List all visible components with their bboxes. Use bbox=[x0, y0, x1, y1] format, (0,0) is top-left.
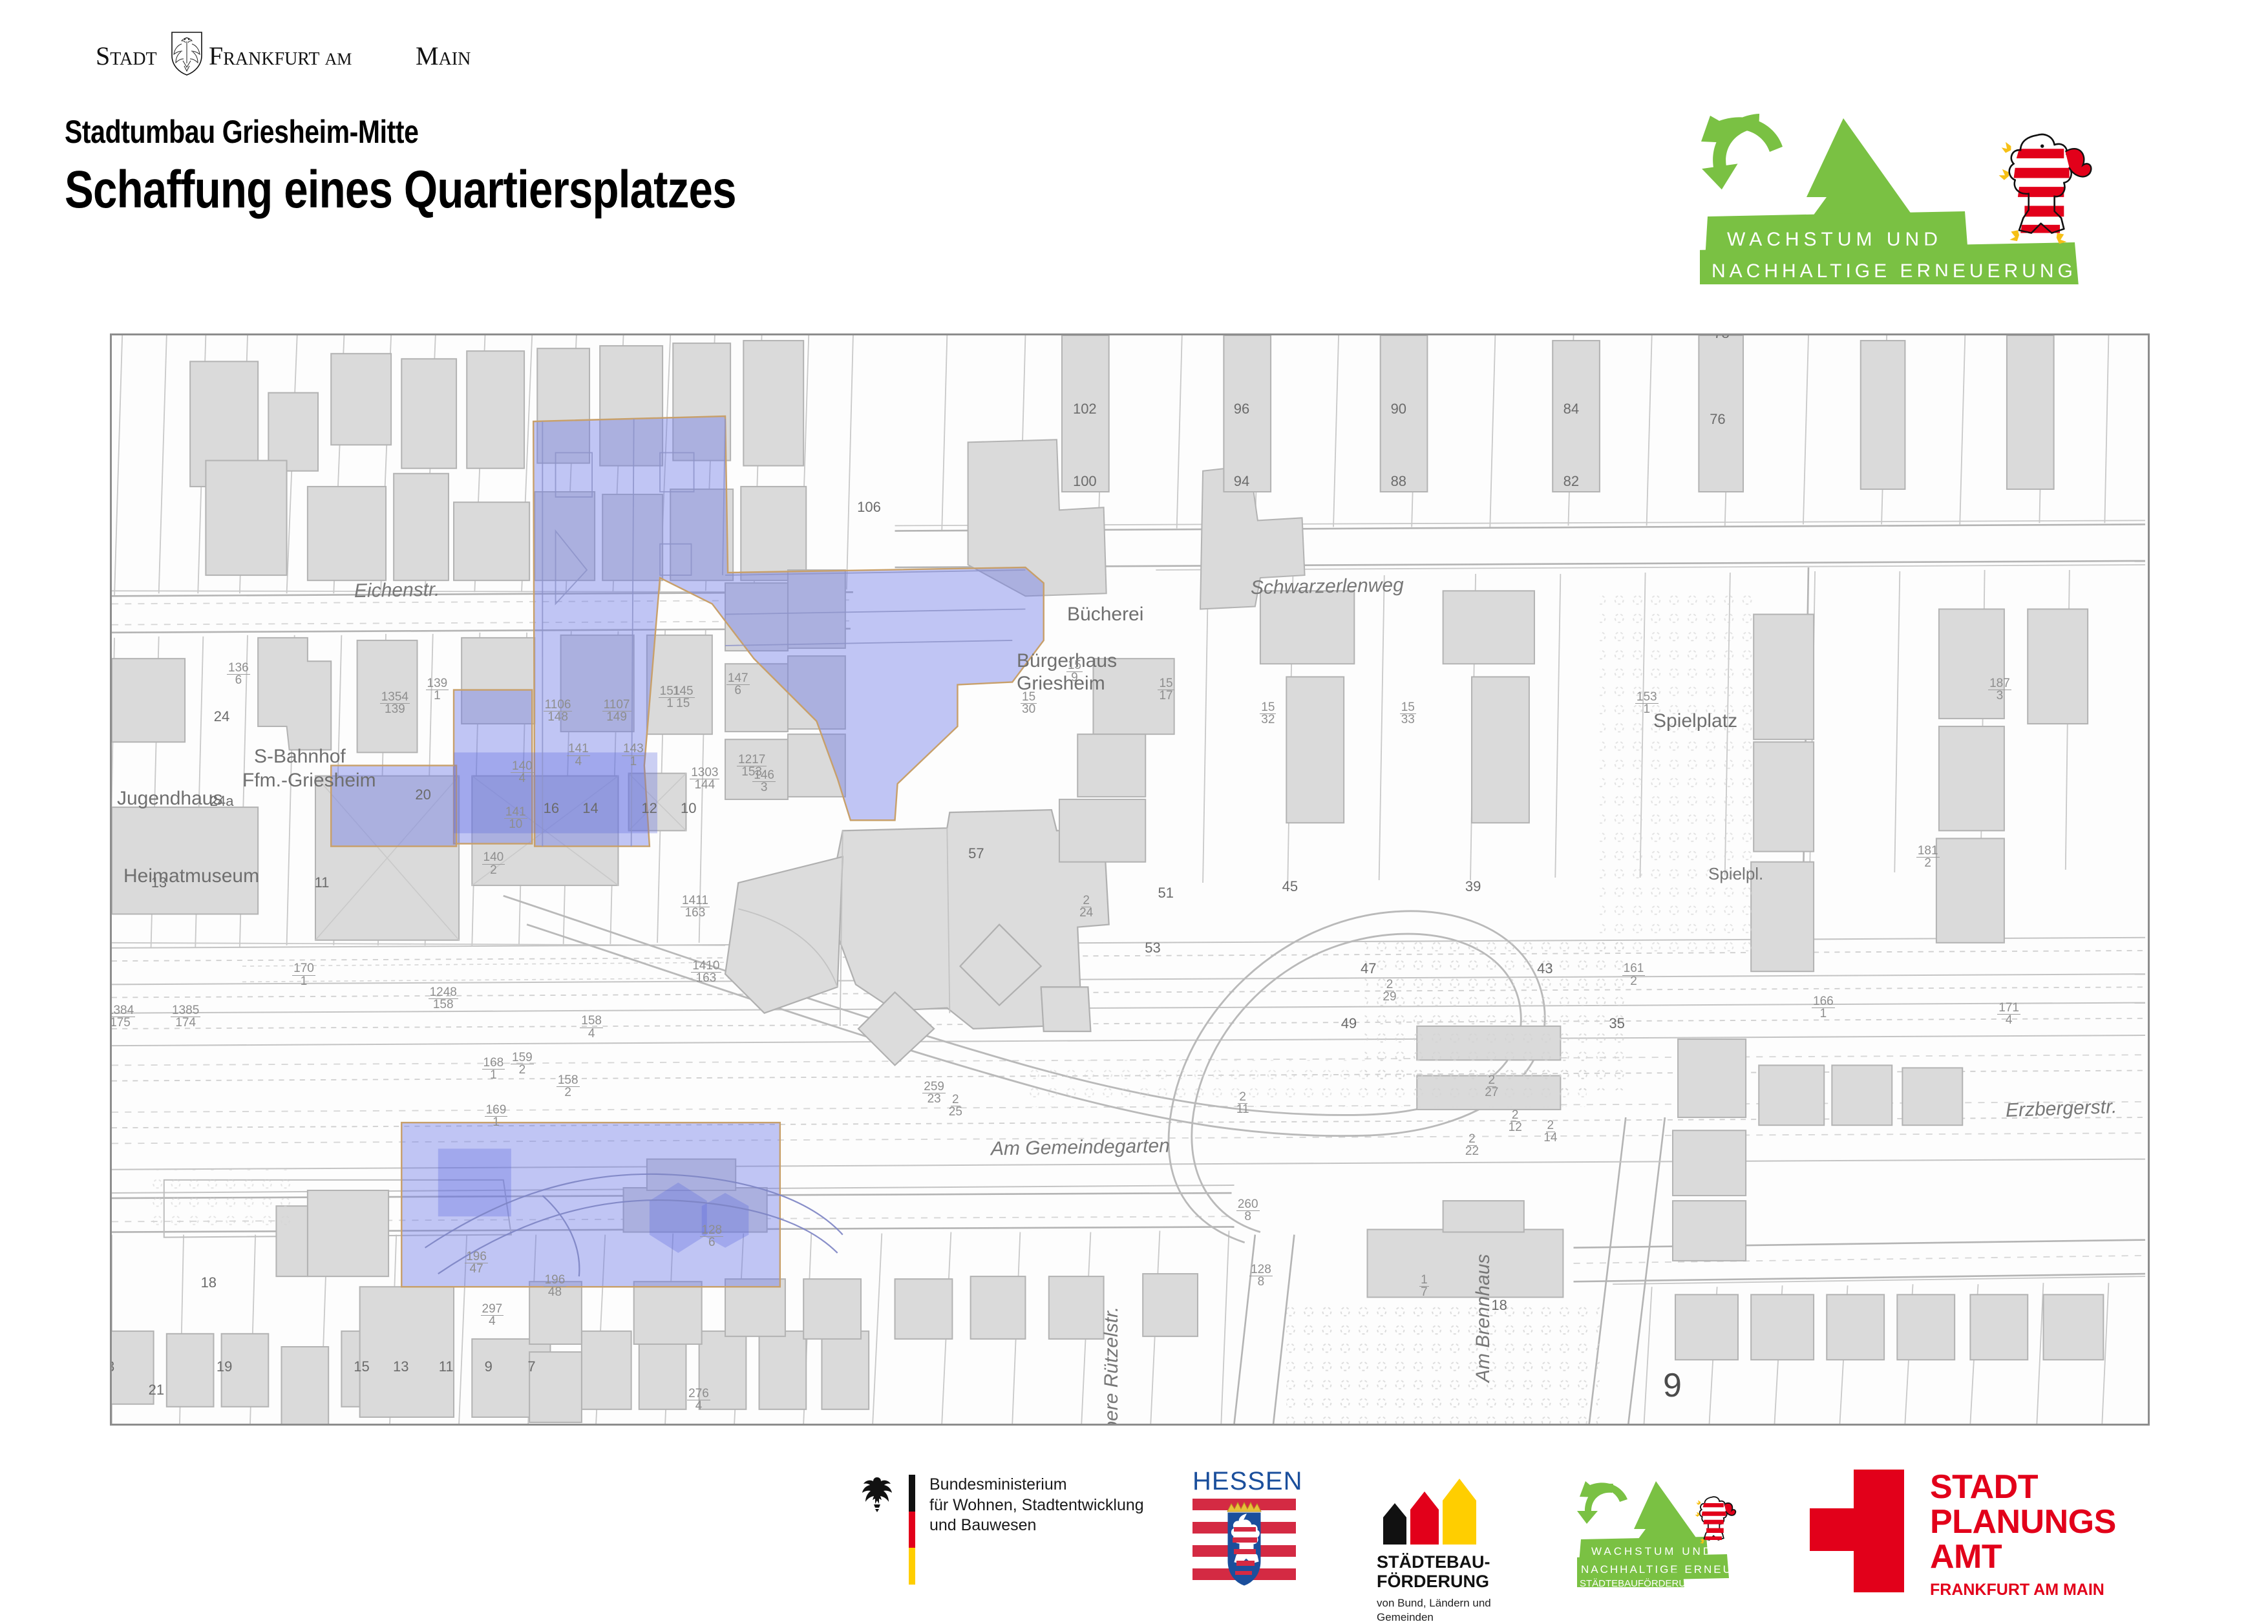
parcel-number: 1366 bbox=[227, 662, 250, 686]
staedtebaufoerderung-logo: STÄDTEBAU- FÖRDERUNG von Bund, Ländern u… bbox=[1377, 1475, 1491, 1624]
house-number: 14 bbox=[582, 800, 598, 817]
house-number: 9 bbox=[485, 1358, 493, 1375]
house-number: 20 bbox=[415, 786, 430, 803]
map-canvas bbox=[112, 335, 2148, 1424]
wachstum-und-nachhaltige-erneuerung-logo: WACHSTUM UND NACHHALTIGE ERNEUERUNG STÄD… bbox=[1700, 113, 2165, 284]
parcel-number: 2764 bbox=[687, 1388, 710, 1412]
parcel-number: 17 bbox=[1419, 1274, 1429, 1298]
parcel-number: 1354139 bbox=[380, 691, 410, 715]
house-number: 15 bbox=[354, 1358, 369, 1375]
cadastral-map[interactable]: Eichenstr. Schwarzerlenweg Erzbergerstr.… bbox=[110, 333, 2150, 1426]
federal-eagle-icon bbox=[860, 1475, 895, 1513]
house-number: 88 bbox=[1391, 473, 1406, 490]
parcel-number: 1661 bbox=[1812, 996, 1835, 1020]
house-number: 24a bbox=[210, 793, 234, 810]
hessen-wordmark: HESSEN bbox=[1192, 1467, 1303, 1496]
house-number: 12 bbox=[641, 800, 657, 817]
parcel-number: 1873 bbox=[1988, 678, 2011, 702]
stadtplanungsamt-logo: STADT PLANUNGS AMT FRANKFURT AM MAIN bbox=[1810, 1470, 2116, 1599]
spa-line3: AMT bbox=[1930, 1539, 2116, 1574]
parcel-number: 1414 bbox=[567, 743, 590, 767]
hessen-state-logo: HESSEN bbox=[1192, 1467, 1303, 1592]
house-number: 13 bbox=[393, 1358, 408, 1375]
house-number: 98 bbox=[1230, 333, 1245, 339]
parcel-number: 1391 bbox=[426, 678, 449, 702]
poi-label-spielpl: Spielpl. bbox=[1708, 864, 1763, 884]
poi-label-jugendhaus: Jugendhaus bbox=[117, 788, 222, 810]
house-number: 76 bbox=[1710, 411, 1725, 428]
parcel-number: 2608 bbox=[1236, 1199, 1260, 1223]
parcel-number: 1404 bbox=[511, 761, 534, 785]
parcel-number: 2974 bbox=[481, 1303, 504, 1327]
hessen-coat-of-arms-icon bbox=[1192, 1499, 1296, 1589]
house-number: 39 bbox=[1465, 878, 1481, 895]
project-subtitle: Stadtumbau Griesheim-Mitte bbox=[65, 113, 736, 151]
bmwsb-line1: Bundesministerium bbox=[929, 1475, 1144, 1495]
street-label-am-gemeindegarten: Am Gemeindegarten bbox=[991, 1135, 1170, 1161]
house-number: 10 bbox=[681, 800, 696, 817]
parcel-number: 1385174 bbox=[171, 1005, 200, 1029]
parcel-number: 1288 bbox=[1249, 1264, 1273, 1288]
street-label-am-brennhaus: Am Brennhaus bbox=[1472, 1254, 1494, 1382]
three-houses-icon bbox=[1377, 1475, 1487, 1546]
parcel-number: 1431 bbox=[622, 743, 645, 767]
parcel-number: 14110 bbox=[504, 807, 527, 830]
parcel-number: 1410163 bbox=[691, 960, 721, 984]
poi-label-spielplatz: Spielplatz bbox=[1653, 710, 1737, 732]
poi-label-buecherei: Bücherei bbox=[1067, 604, 1143, 626]
house-number: 45 bbox=[1282, 878, 1298, 895]
parcel-number: 19647 bbox=[465, 1251, 488, 1275]
parcel-number: 227 bbox=[1485, 1075, 1498, 1099]
bmwsb-logo: Bundesministerium für Wohnen, Stadtentwi… bbox=[860, 1475, 1144, 1585]
map-scale-glyph: 9 bbox=[1663, 1366, 1682, 1405]
house-number: 18 bbox=[1491, 1297, 1507, 1314]
parcel-number: 1532 bbox=[1260, 702, 1276, 726]
parcel-number: 1217153 bbox=[737, 754, 767, 778]
svg-text:STADT: STADT bbox=[96, 41, 157, 70]
house-number: 78 bbox=[1713, 333, 1729, 342]
footer-logo-bar: Bundesministerium für Wohnen, Stadtentwi… bbox=[0, 1462, 2268, 1603]
poi-label-s-bahnhof: S-Bahnhof bbox=[254, 746, 346, 768]
street-label-schwarzerlenweg: Schwarzerlenweg bbox=[1251, 575, 1404, 599]
parcel-number: 1584 bbox=[580, 1015, 603, 1039]
parcel-number: 211 bbox=[1236, 1091, 1249, 1115]
parcel-number: 1812 bbox=[1916, 845, 1940, 869]
spa-mark-icon bbox=[1810, 1470, 1908, 1592]
city-of-frankfurt-logo: STADT FRANKFURTAM MAIN bbox=[96, 31, 522, 76]
parcel-number: 1384175 bbox=[110, 1005, 135, 1029]
house-number: 49 bbox=[1341, 1015, 1357, 1032]
parcel-number: 1411163 bbox=[681, 895, 710, 919]
parcel-number: 1592 bbox=[511, 1052, 534, 1076]
house-number: 82 bbox=[1563, 473, 1579, 490]
parcel-number: 1476 bbox=[726, 673, 750, 697]
poi-label-heimatmuseum: Heimatmuseum bbox=[123, 865, 259, 887]
parcel-number: 1691 bbox=[485, 1104, 508, 1128]
parcel-number: 1286 bbox=[700, 1225, 723, 1249]
staedtebau-line1: STÄDTEBAU- bbox=[1377, 1553, 1491, 1572]
house-number: 104 bbox=[1066, 333, 1090, 339]
house-number: 24 bbox=[214, 708, 229, 725]
parcel-number: 1511 bbox=[659, 686, 682, 710]
house-number: 51 bbox=[1158, 885, 1173, 902]
parcel-number: 159 bbox=[1066, 660, 1083, 684]
house-number: 90 bbox=[1391, 401, 1406, 417]
bmwsb-line2: für Wohnen, Stadtentwicklung bbox=[929, 1495, 1144, 1516]
spa-line2: PLANUNGS bbox=[1930, 1504, 2116, 1539]
parcel-number: 1303144 bbox=[690, 767, 719, 791]
house-number: 35 bbox=[1609, 1015, 1624, 1032]
house-number: 11 bbox=[439, 1358, 454, 1375]
house-number: 11 bbox=[315, 874, 330, 891]
parcel-number: 1248158 bbox=[429, 987, 458, 1011]
house-number: 92 bbox=[1387, 333, 1403, 339]
house-number: 16 bbox=[544, 800, 559, 817]
staedtebau-sub1: von Bund, Ländern und bbox=[1377, 1596, 1491, 1610]
parcel-number: 224 bbox=[1079, 895, 1093, 919]
parcel-number: 222 bbox=[1465, 1134, 1479, 1157]
street-label-erzbergerstr: Erzbergerstr. bbox=[2005, 1096, 2117, 1122]
house-number: 100 bbox=[1073, 473, 1097, 490]
parcel-number: 1681 bbox=[482, 1057, 505, 1081]
house-number: 106 bbox=[857, 499, 881, 516]
parcel-number: 1582 bbox=[556, 1075, 580, 1099]
house-number: 19 bbox=[217, 1358, 232, 1375]
svg-text:FRANKFURTAM: FRANKFURTAM bbox=[209, 41, 352, 70]
parcel-number: 1701 bbox=[292, 963, 315, 987]
house-number: 21 bbox=[149, 1382, 164, 1398]
house-number: 53 bbox=[1145, 940, 1160, 956]
parcel-number: 1107149 bbox=[602, 699, 631, 723]
parcel-number: 1530 bbox=[1021, 691, 1037, 715]
house-number: 43 bbox=[1537, 960, 1553, 977]
svg-text:MAIN: MAIN bbox=[416, 41, 471, 70]
spa-line1: STADT bbox=[1930, 1470, 2116, 1504]
street-label-obere-ruetzelstr: Obere Rützelstr. bbox=[1101, 1307, 1123, 1426]
parcel-number: 1402 bbox=[482, 852, 505, 876]
house-number: 57 bbox=[968, 845, 984, 862]
bmwsb-line3: und Bauwesen bbox=[929, 1515, 1144, 1536]
staedtebau-sub2: Gemeinden bbox=[1377, 1610, 1491, 1624]
staedtebau-line2: FÖRDERUNG bbox=[1377, 1572, 1491, 1592]
house-number: 23 bbox=[110, 1358, 114, 1375]
wachstum-small-line3: STÄDTEBAUFÖRDERUNG HESSEN bbox=[1580, 1577, 1743, 1587]
house-number: 13 bbox=[151, 874, 167, 891]
house-number: 102 bbox=[1073, 401, 1097, 417]
parcel-number: 19648 bbox=[544, 1274, 567, 1298]
parcel-number: 25923 bbox=[922, 1081, 946, 1105]
wachstum-logo-small: WACHSTUM UND NACHHALTIGE ERNEUERUNG STÄD… bbox=[1577, 1477, 1771, 1590]
parcel-number: 229 bbox=[1383, 979, 1396, 1003]
poi-label-ffm-griesheim: Ffm.-Griesheim bbox=[242, 770, 376, 792]
house-number: 7 bbox=[527, 1358, 535, 1375]
house-number: 47 bbox=[1361, 960, 1376, 977]
parcel-number: 1517 bbox=[1158, 678, 1174, 702]
parcel-number: 1714 bbox=[1997, 1002, 2020, 1026]
parcel-number: 1106148 bbox=[544, 699, 573, 723]
parcel-number: 1612 bbox=[1622, 963, 1646, 987]
parcel-number: 1533 bbox=[1400, 702, 1416, 726]
parcel-number: 212 bbox=[1509, 1110, 1522, 1134]
parcel-number: 214 bbox=[1543, 1120, 1557, 1144]
house-number: 84 bbox=[1563, 401, 1579, 417]
street-label-eichenstr: Eichenstr. bbox=[354, 579, 440, 602]
house-number: 18 bbox=[201, 1274, 217, 1291]
house-number: 96 bbox=[1234, 401, 1249, 417]
page-title: Schaffung eines Quartiersplatzes bbox=[65, 160, 736, 220]
spa-subtitle: FRANKFURT AM MAIN bbox=[1930, 1581, 2116, 1599]
parcel-number: 225 bbox=[949, 1094, 962, 1118]
house-number: 94 bbox=[1234, 473, 1249, 490]
parcel-number: 1531 bbox=[1635, 691, 1659, 715]
title-block: Stadtumbau Griesheim-Mitte Schaffung ein… bbox=[65, 113, 884, 220]
